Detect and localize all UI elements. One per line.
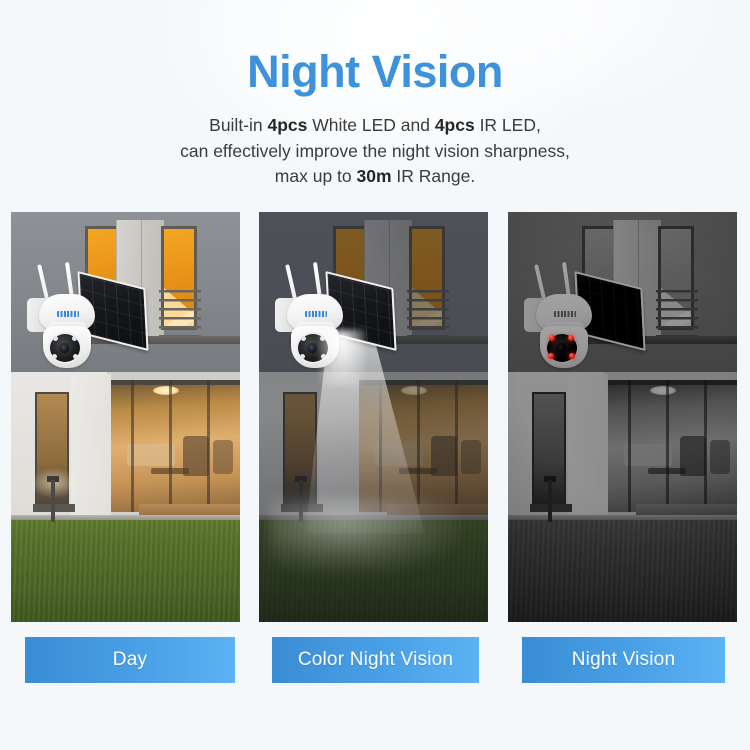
subtitle: Built-in 4pcs White LED and 4pcs IR LED,… [0,113,750,189]
ceiling-light [650,386,676,395]
white-led-1 [301,336,306,341]
patio-sofa [624,444,672,466]
panel-labels: Day Color Night Vision Night Vision [0,637,750,685]
ir-led-2 [568,335,574,341]
ir-led-1 [549,335,555,341]
scene-color-night [259,212,488,622]
subtitle-line1-bold-1: 4pcs [268,115,308,135]
lawn [11,520,240,622]
subtitle-line1-pre: Built-in [209,115,267,135]
label-day[interactable]: Day [25,637,235,683]
ground-floor-glazing [107,380,240,512]
glazing-mullion-1 [379,380,382,512]
brand-logo [305,311,327,317]
subtitle-line1-post: IR LED, [475,115,541,135]
glazing-mullion-2 [417,380,420,512]
glazing-header [604,380,737,385]
patio-chair-1 [680,436,706,476]
comparison-panels [0,212,750,622]
panel-color-night-vision[interactable] [259,212,488,622]
facade-pier [319,374,359,520]
patio-chair-2 [710,440,730,474]
scene-day [11,212,240,622]
glazing-mullion-3 [455,380,458,512]
white-led-4 [73,354,78,359]
ceiling-light [401,386,427,395]
subtitle-line3-pre: max up to [275,166,357,186]
white-led-3 [52,354,57,359]
lawn [508,520,737,622]
patio-chair-1 [183,436,209,476]
patio-chair-2 [213,440,233,474]
railing-bars [159,290,201,336]
brand-logo [57,311,79,317]
subtitle-line3-bold: 30m [357,166,392,186]
balcony-railing-right [656,290,698,336]
page-title: Night Vision [0,48,750,95]
ground-floor-glazing [355,380,488,512]
security-camera-spotlight [271,264,393,374]
subtitle-line3-post: IR Range. [392,166,476,186]
label-night-vision-text: Night Vision [572,649,675,671]
white-led-4 [321,354,326,359]
railing-bars [656,290,698,336]
label-color-night-vision-text: Color Night Vision [298,649,453,671]
panel-night-vision[interactable] [508,212,737,622]
ceiling-light [153,386,179,395]
subtitle-line1-bold-2: 4pcs [435,115,475,135]
page-title-text: Night Vision [247,46,503,97]
header: Night Vision Built-in 4pcs White LED and… [0,0,750,189]
patio-sofa [127,444,175,466]
subtitle-line-1: Built-in 4pcs White LED and 4pcs IR LED, [0,113,750,138]
railing-bars [407,290,449,336]
label-night-vision[interactable]: Night Vision [522,637,725,683]
glazing-header [107,380,240,385]
garden-bollard-light [548,480,552,522]
subtitle-line1-mid: White LED and [307,115,434,135]
security-camera-day [23,264,145,374]
ir-led-3 [548,353,554,359]
camera-lens [307,343,318,354]
camera-lens [59,343,70,354]
glazing-mullion-2 [666,380,669,512]
glazing-header [355,380,488,385]
subtitle-line-2: can effectively improve the night vision… [0,139,750,164]
patio-chair-1 [431,436,457,476]
lawn [259,520,488,622]
glazing-mullion-3 [704,380,707,512]
subtitle-line-3: max up to 30m IR Range. [0,164,750,189]
label-day-text: Day [113,649,147,671]
glazing-mullion-1 [628,380,631,512]
ir-led-4 [569,353,575,359]
glazing-mullion-3 [207,380,210,512]
glazing-mullion-1 [131,380,134,512]
garden-bollard-light [51,480,55,522]
white-led-2 [72,336,77,341]
label-color-night-vision[interactable]: Color Night Vision [272,637,479,683]
ground-floor-glazing [604,380,737,512]
balcony-railing-right [407,290,449,336]
patio-sofa [375,444,423,466]
infrared-led-array [520,264,642,374]
panel-day[interactable] [11,212,240,622]
garden-bollard-light [299,480,303,522]
patio-chair-2 [461,440,481,474]
white-led-2 [320,336,325,341]
balcony-railing-right [159,290,201,336]
facade-pier [568,374,608,520]
glazing-mullion-2 [169,380,172,512]
white-led-3 [300,354,305,359]
white-led-1 [53,336,58,341]
facade-pier [71,374,111,520]
